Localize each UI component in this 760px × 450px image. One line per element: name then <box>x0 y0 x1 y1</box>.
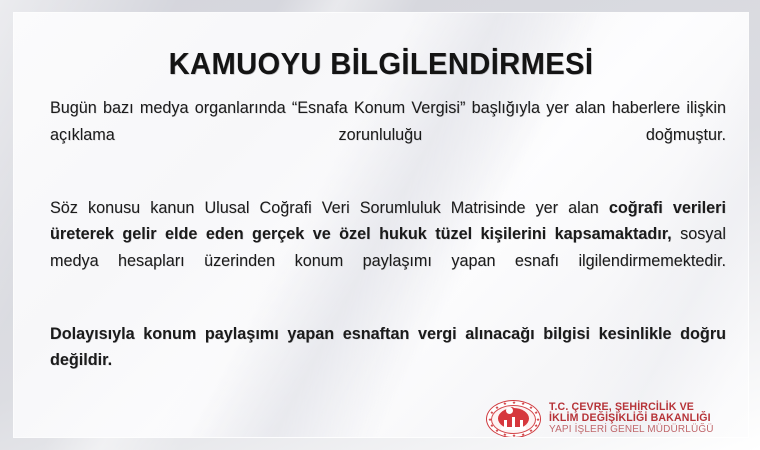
turkish-ministry-emblem-icon: ★★★★★★★★★★★★★★★★ <box>486 400 541 437</box>
slide-canvas: KAMUOYU BİLGİLENDİRMESİ Bugün bazı medya… <box>0 0 760 450</box>
text-run: Bugün bazı medya organlarında “Esnafa Ko… <box>50 99 726 144</box>
page-title: KAMUOYU BİLGİLENDİRMESİ <box>36 46 726 82</box>
announcement-body: Bugün bazı medya organlarında “Esnafa Ko… <box>50 95 726 420</box>
ministry-logo: ★★★★★★★★★★★★★★★★ T.C. ÇEVRE, ŞEHİRCİLİK … <box>486 396 731 437</box>
card-content: KAMUOYU BİLGİLENDİRMESİ Bugün bazı medya… <box>14 13 748 437</box>
ministry-department-line: YAPI İŞLERİ GENEL MÜDÜRLÜĞÜ <box>549 425 731 436</box>
paragraph-intro: Bugün bazı medya organlarında “Esnafa Ko… <box>50 95 726 175</box>
emphasis-run: Dolayısıyla konum paylaşımı yapan esnaft… <box>50 325 726 370</box>
ministry-logo-text: T.C. ÇEVRE, ŞEHİRCİLİK VE İKLİM DEĞİŞİKL… <box>549 402 731 436</box>
announcement-card: KAMUOYU BİLGİLENDİRMESİ Bugün bazı medya… <box>14 13 748 437</box>
emblem-crescent-icon <box>506 407 513 414</box>
paragraph-conclusion: Dolayısıyla konum paylaşımı yapan esnaft… <box>50 321 726 401</box>
emblem-base-line <box>501 427 526 429</box>
paragraph-scope: Söz konusu kanun Ulusal Coğrafi Veri Sor… <box>50 195 726 301</box>
emblem-building-bars <box>504 416 523 427</box>
text-run: Söz konusu kanun Ulusal Coğrafi Veri Sor… <box>50 199 609 217</box>
